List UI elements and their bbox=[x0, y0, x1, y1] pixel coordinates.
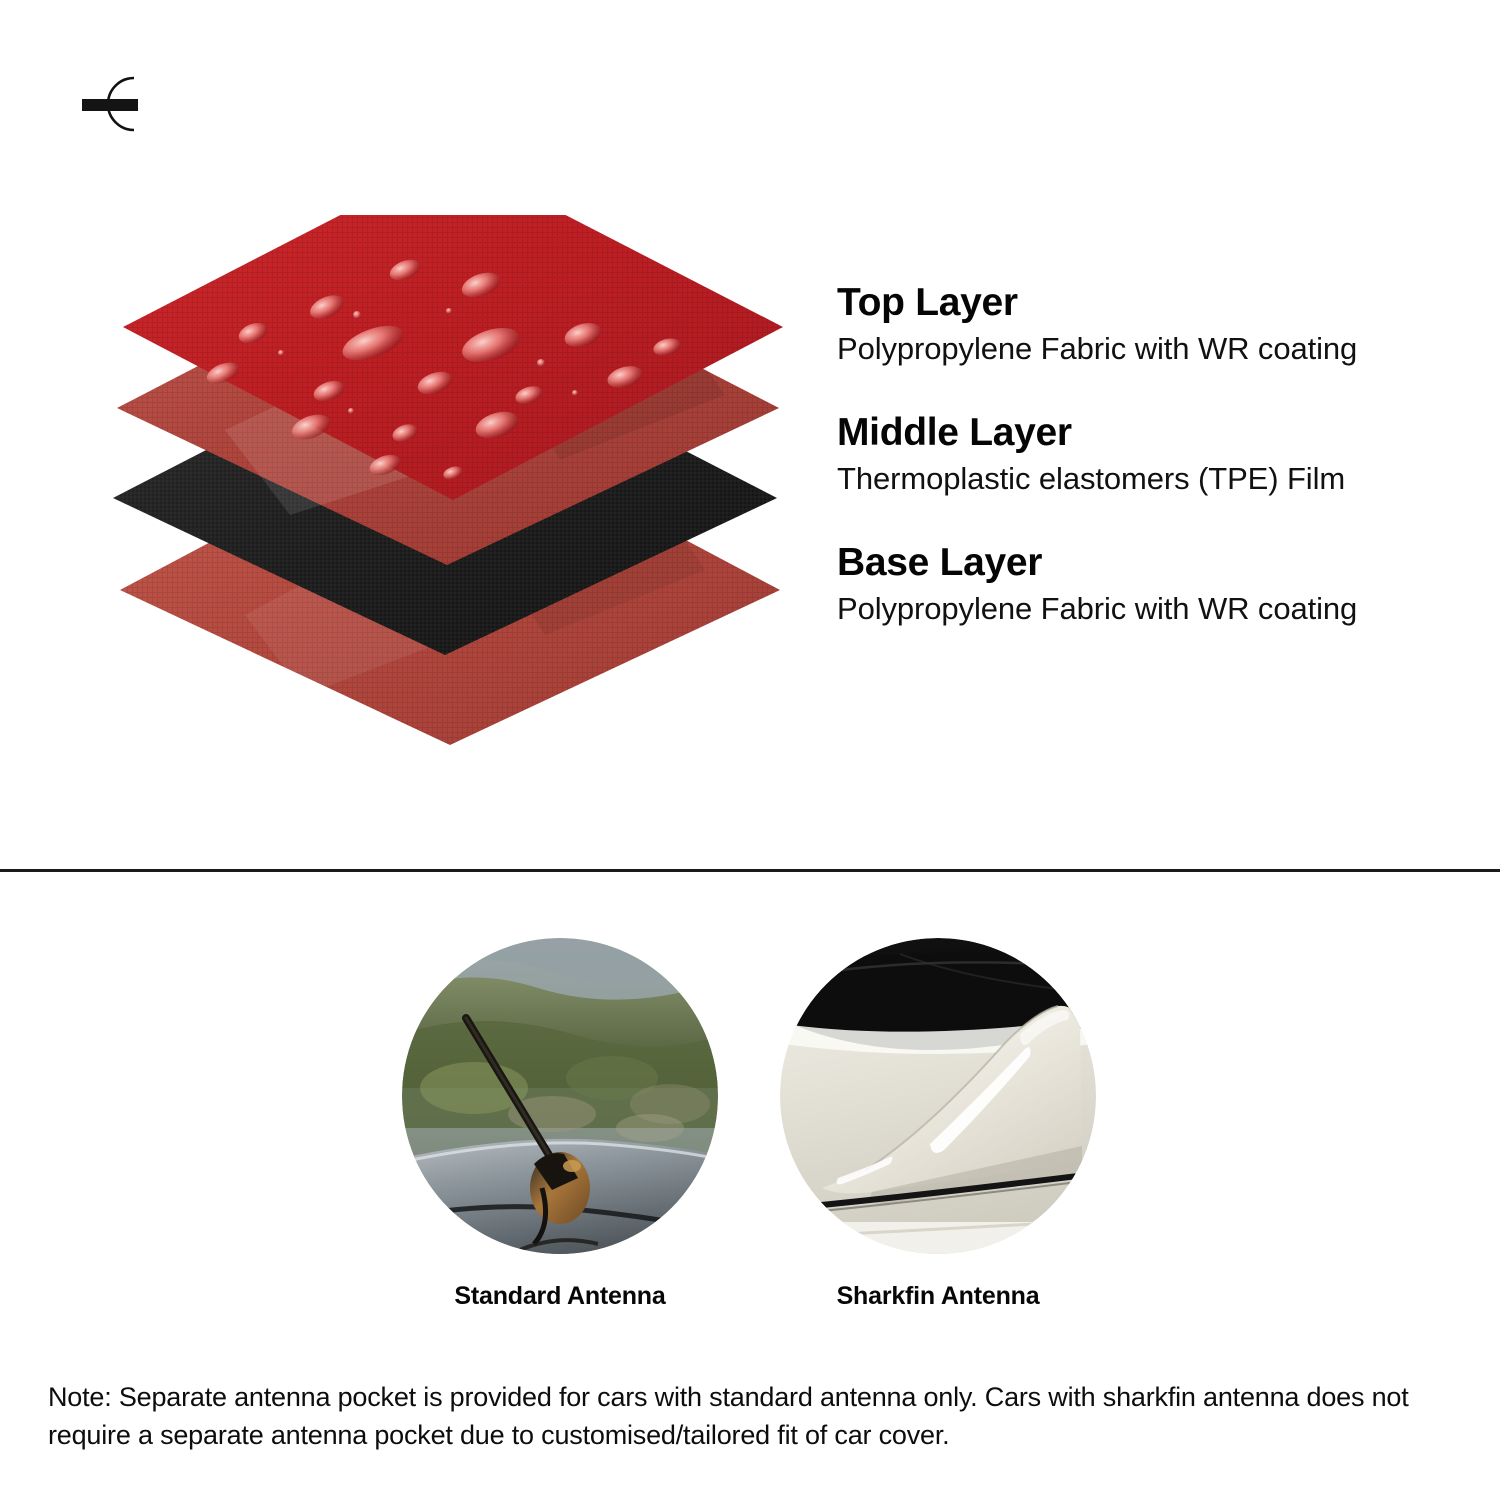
layer-spec-middle: Middle Layer Thermoplastic elastomers (T… bbox=[837, 411, 1457, 499]
standard-antenna-caption: Standard Antenna bbox=[402, 1282, 718, 1311]
layer-specs-list: Top Layer Polypropylene Fabric with WR c… bbox=[837, 281, 1457, 629]
layer-stack-illustration bbox=[105, 215, 795, 755]
sharkfin-antenna-photo bbox=[780, 938, 1096, 1254]
infographic-page: Top Layer Polypropylene Fabric with WR c… bbox=[0, 0, 1500, 1500]
layer-spec-base: Base Layer Polypropylene Fabric with WR … bbox=[837, 541, 1457, 629]
base-layer-title: Base Layer bbox=[837, 541, 1457, 585]
top-layer-description: Polypropylene Fabric with WR coating bbox=[837, 329, 1457, 369]
antenna-comparison-section: Standard Antenna bbox=[0, 938, 1500, 1318]
standard-antenna-photo bbox=[402, 938, 718, 1254]
section-divider bbox=[0, 869, 1500, 872]
brand-logo-icon bbox=[72, 68, 168, 140]
antenna-option-sharkfin: Sharkfin Antenna bbox=[780, 938, 1096, 1311]
middle-layer-description: Thermoplastic elastomers (TPE) Film bbox=[837, 459, 1457, 499]
base-layer-description: Polypropylene Fabric with WR coating bbox=[837, 589, 1457, 629]
antenna-pocket-note: Note: Separate antenna pocket is provide… bbox=[48, 1378, 1468, 1455]
middle-layer-title: Middle Layer bbox=[837, 411, 1457, 455]
top-layer-title: Top Layer bbox=[837, 281, 1457, 325]
sharkfin-antenna-caption: Sharkfin Antenna bbox=[780, 1282, 1096, 1311]
layer-spec-top: Top Layer Polypropylene Fabric with WR c… bbox=[837, 281, 1457, 369]
antenna-option-standard: Standard Antenna bbox=[402, 938, 718, 1311]
